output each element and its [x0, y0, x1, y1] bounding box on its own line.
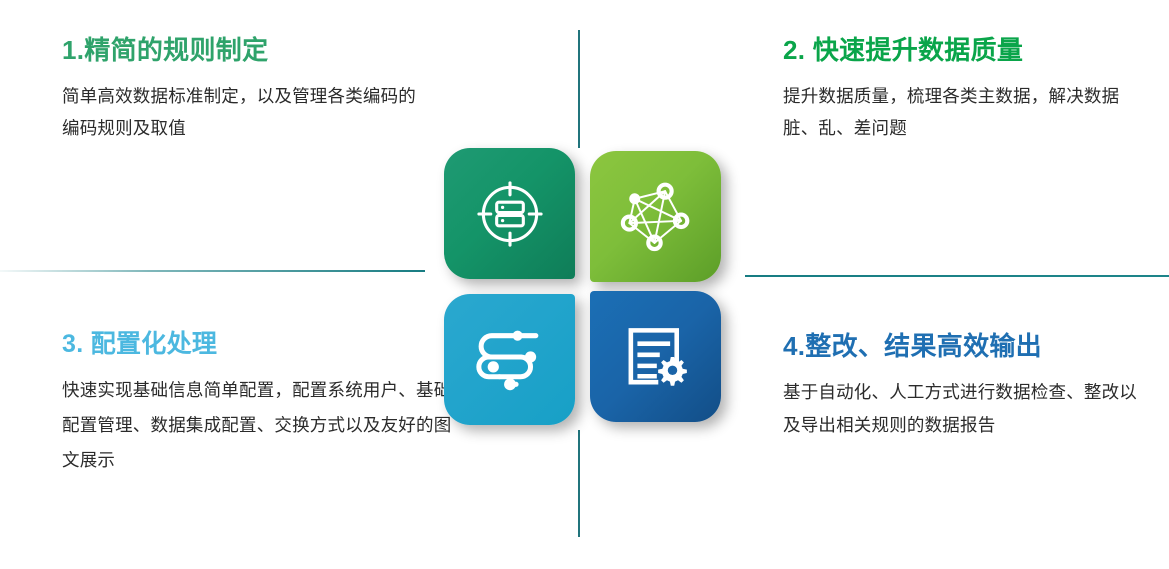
target-database-icon	[473, 177, 547, 251]
divider-horizontal-left	[0, 270, 425, 272]
quadrant-2: 2. 快速提升数据质量 提升数据质量，梳理各类主数据，解决数据脏、乱、差问题	[783, 36, 1128, 145]
quadrant-2-body: 提升数据质量，梳理各类主数据，解决数据脏、乱、差问题	[783, 80, 1128, 145]
divider-horizontal-right	[745, 275, 1169, 277]
quadrant-1-heading: 1.精简的规则制定	[62, 36, 432, 66]
quadrant-2-heading: 2. 快速提升数据质量	[783, 36, 1128, 66]
document-gear-icon	[619, 320, 693, 394]
divider-vertical-top	[578, 30, 580, 148]
tile-report-output[interactable]	[590, 291, 721, 422]
network-graph-icon	[618, 179, 694, 255]
workflow-path-icon	[472, 323, 548, 397]
quadrant-3-body: 快速实现基础信息简单配置，配置系统用户、基础配置管理、数据集成配置、交换方式以及…	[62, 373, 452, 478]
quadrant-4: 4.整改、结果高效输出 基于自动化、人工方式进行数据检查、整改以及导出相关规则的…	[783, 332, 1143, 442]
quadrant-1-body: 简单高效数据标准制定，以及管理各类编码的编码规则及取值	[62, 80, 432, 145]
quadrant-3: 3. 配置化处理 快速实现基础信息简单配置，配置系统用户、基础配置管理、数据集成…	[62, 330, 452, 478]
tile-rule-definition[interactable]	[444, 148, 575, 279]
tile-configuration[interactable]	[444, 294, 575, 425]
quadrant-3-heading: 3. 配置化处理	[62, 330, 452, 359]
tile-data-quality[interactable]	[590, 151, 721, 282]
divider-vertical-bottom	[578, 430, 580, 537]
quadrant-4-heading: 4.整改、结果高效输出	[783, 332, 1143, 362]
center-tile-cluster	[444, 148, 728, 432]
quadrant-1: 1.精简的规则制定 简单高效数据标准制定，以及管理各类编码的编码规则及取值	[62, 36, 432, 145]
quadrant-4-body: 基于自动化、人工方式进行数据检查、整改以及导出相关规则的数据报告	[783, 376, 1143, 443]
